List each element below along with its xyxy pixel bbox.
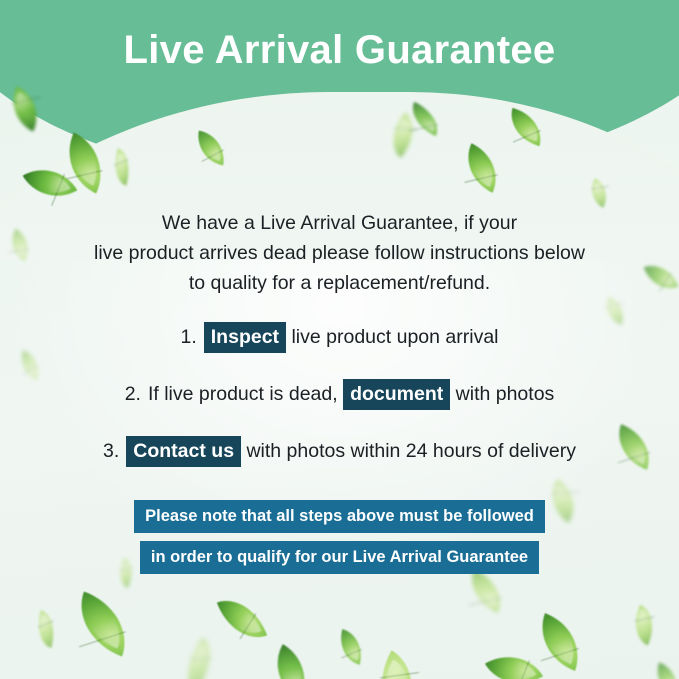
step-number: 2. [125,383,141,406]
content-area: We have a Live Arrival Guarantee, if you… [0,0,679,679]
step-number: 1. [181,326,197,349]
step-text-after: with photos [450,383,554,406]
step-number: 3. [103,440,119,463]
step-text-before: If live product is dead, [148,383,343,406]
step-text-after: live product upon arrival [286,326,498,349]
step-highlight: Inspect [204,322,286,353]
intro-paragraph: We have a Live Arrival Guarantee, if you… [50,208,629,298]
step-item: 2.If live product is dead, document with… [0,377,679,411]
note-banner: Please note that all steps above must be… [134,500,545,533]
intro-line-3: to quality for a replacement/refund. [50,268,629,298]
step-text-after: with photos within 24 hours of delivery [241,440,576,463]
step-item: 1.Inspect live product upon arrival [0,320,679,354]
step-highlight: Contact us [126,436,241,467]
intro-line-2: live product arrives dead please follow … [50,238,629,268]
live-arrival-guarantee-page: Live Arrival Guarantee We have a Live Ar… [0,0,679,679]
step-highlight: document [343,379,450,410]
note-banners: Please note that all steps above must be… [0,500,679,582]
page-title: Live Arrival Guarantee [0,28,679,73]
step-item: 3.Contact us with photos within 24 hours… [0,434,679,468]
steps-list: 1.Inspect live product upon arrival2.If … [0,320,679,491]
intro-line-1: We have a Live Arrival Guarantee, if you… [50,208,629,238]
note-banner: in order to qualify for our Live Arrival… [140,541,539,574]
